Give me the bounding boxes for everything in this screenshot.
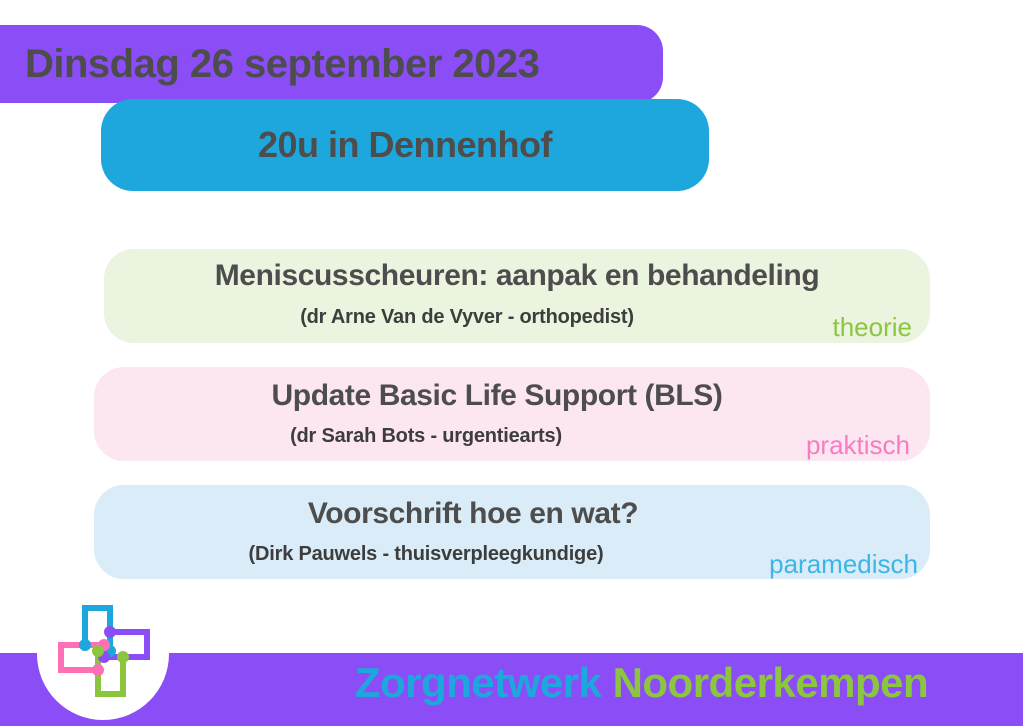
session-tag: theorie bbox=[833, 312, 913, 343]
time-location-banner: 20u in Dennenhof bbox=[101, 99, 709, 191]
session-card-paramedisch: Voorschrift hoe en wat? (Dirk Pauwels - … bbox=[94, 485, 930, 579]
session-title: Update Basic Life Support (BLS) bbox=[64, 378, 930, 414]
session-speaker: (dr Sarah Bots - urgentiearts) bbox=[0, 424, 930, 448]
session-list: Meniscusscheuren: aanpak en behandeling … bbox=[94, 249, 930, 603]
session-tag: paramedisch bbox=[769, 549, 918, 580]
session-title: Meniscusscheuren: aanpak en behandeling bbox=[104, 258, 930, 294]
footer-brand-part-2: Noorderkempen bbox=[613, 659, 929, 706]
time-location-label: 20u in Dennenhof bbox=[258, 127, 552, 163]
footer-brand-space bbox=[601, 659, 612, 706]
session-card-praktisch: Update Basic Life Support (BLS) (dr Sara… bbox=[94, 367, 930, 461]
date-label: Dinsdag 26 september 2023 bbox=[25, 44, 539, 84]
session-card-theorie: Meniscusscheuren: aanpak en behandeling … bbox=[104, 249, 930, 343]
date-banner: Dinsdag 26 september 2023 bbox=[0, 25, 663, 103]
session-speaker: (dr Arne Van de Vyver - orthopedist) bbox=[4, 305, 930, 329]
session-title: Voorschrift hoe en wat? bbox=[16, 496, 930, 532]
session-tag: praktisch bbox=[806, 430, 910, 461]
footer-brand: Zorgnetwerk Noorderkempen bbox=[0, 662, 1023, 704]
footer-brand-part-1: Zorgnetwerk bbox=[355, 659, 602, 706]
